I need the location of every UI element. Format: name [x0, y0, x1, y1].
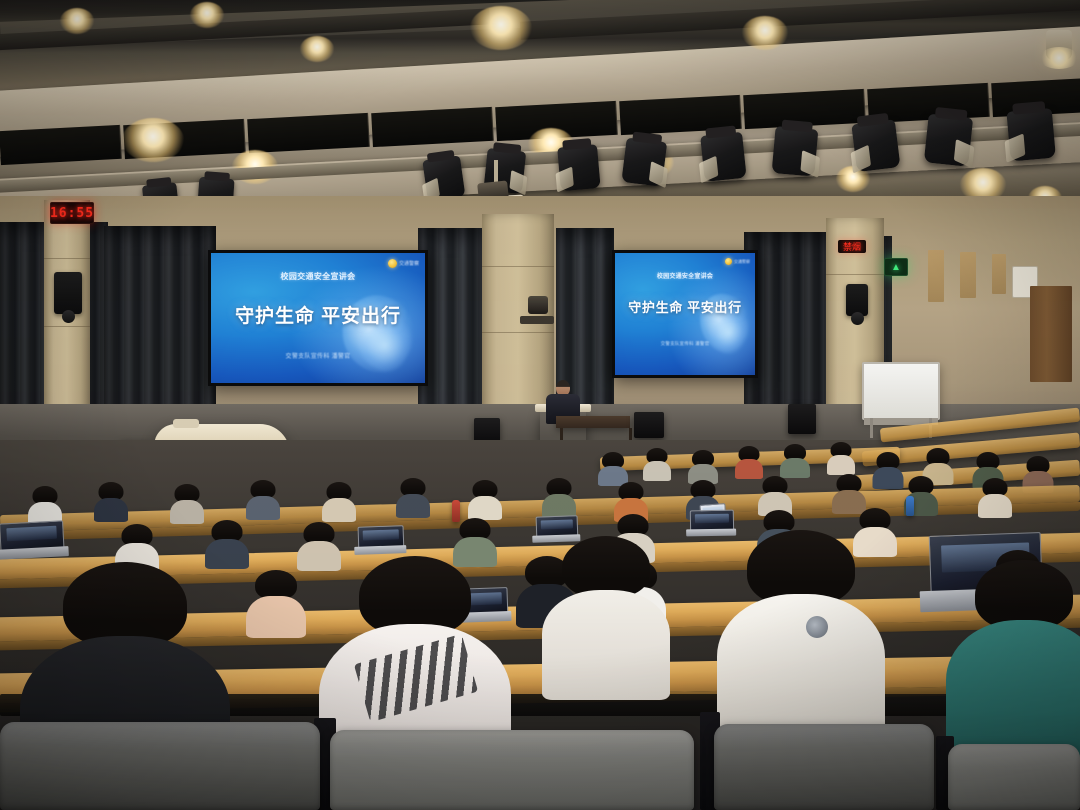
seat-back-2[interactable]: [330, 730, 694, 810]
pendant-can-light: [1046, 30, 1072, 60]
slide-logo-text-right: 交通警察: [734, 259, 750, 265]
acoustic-panel-1: [928, 250, 944, 302]
slide-footer-right: 交警支队宣传科 潘警官: [615, 341, 755, 347]
audience-member-mid-14: [980, 478, 1010, 512]
slide-title-right: 守护生命 平安出行: [615, 297, 755, 316]
downlight-12: [190, 2, 224, 28]
slide-logo-right: 交通警察: [725, 258, 750, 265]
lecture-hall-photo: 16:55 禁烟 ▲ 校园交通安全宣讲会 守护生命 平安出行 交警支队宣传科 潘…: [0, 0, 1080, 810]
audience-member-mid-3: [172, 484, 202, 518]
stage-equipment-case-3: [788, 404, 816, 434]
projection-screen-left: 校园交通安全宣讲会 守护生命 平安出行 交警支队宣传科 潘警官 交通警察: [211, 253, 425, 383]
laptop-2[interactable]: [358, 525, 403, 555]
whiteboard-leg-left: [870, 418, 873, 438]
downlight-3: [300, 36, 334, 62]
downlight-4: [470, 6, 532, 50]
slide-footer: 交警支队宣传科 潘警官: [211, 351, 425, 360]
audience-member-mid-6: [398, 478, 428, 512]
led-wall-clock: 16:55: [50, 202, 94, 224]
audience-member-back-1: [600, 452, 626, 482]
projection-screen-left-frame: 校园交通安全宣讲会 守护生命 平安出行 交警支队宣传科 潘警官 交通警察: [208, 250, 428, 386]
acoustic-panel-2: [960, 252, 976, 298]
audience-member-back-2: [644, 448, 670, 478]
stage-spotlight-9: [851, 119, 900, 172]
downlight-7: [742, 16, 788, 50]
audience-member-back-3: [690, 450, 716, 480]
audience-member-row3-1: [250, 570, 302, 632]
audience-member-mid-9: [616, 482, 646, 516]
audience-member-front-3: [548, 536, 664, 686]
slide-logo: 交通警察: [388, 259, 419, 268]
audience-member-mid-4: [248, 480, 278, 514]
projection-screen-right: 校园交通安全宣讲会 守护生命 平安出行 交警支队宣传科 潘警官 交通警察: [615, 253, 755, 375]
stage-spotlight-10: [924, 114, 973, 167]
seat-back-4[interactable]: [948, 744, 1080, 810]
audience-member-back-4: [736, 446, 762, 476]
stage-spotlight-7: [700, 132, 747, 182]
ceiling-grid-1: [0, 125, 122, 165]
downlight-11: [60, 8, 94, 34]
stage-spotlight-5: [557, 144, 601, 191]
ceiling-grid-4: [371, 107, 494, 147]
audience-member-back-10: [1024, 456, 1052, 488]
audience-member-back-6: [828, 442, 854, 472]
seat-back-1[interactable]: [0, 722, 320, 810]
led-notice-sign: 禁烟: [838, 240, 866, 253]
pillar-mounted-bracket: [520, 316, 554, 324]
wall-speaker-right: [846, 284, 868, 316]
stage-side-table: [556, 416, 630, 428]
slide-logo-badge-right: [725, 258, 732, 265]
shirt-logo-patch: [806, 616, 828, 638]
audience-member-mid-2: [96, 482, 126, 516]
audience-member-mid-1: [30, 486, 60, 520]
stage-curtain-left-mid: [104, 226, 216, 432]
audience-member-back-7: [874, 452, 902, 484]
stage-spotlight-6: [621, 138, 667, 187]
mobile-whiteboard: [862, 362, 940, 420]
side-door: [1030, 286, 1072, 382]
exit-sign: ▲: [884, 258, 908, 276]
led-sign-value: 禁烟: [843, 240, 861, 253]
stage-spotlight-11: [1006, 108, 1056, 161]
audience-member-row4-2: [208, 520, 246, 564]
downlight-1: [122, 118, 184, 162]
audience-member-mid-12: [834, 474, 864, 508]
audience-member-mid-5: [324, 482, 354, 516]
exit-sign-glyph: ▲: [891, 262, 901, 273]
laptop-1[interactable]: [0, 520, 63, 559]
stage-equipment-case-2: [634, 412, 664, 438]
stage-spotlight-8: [772, 126, 819, 176]
slide-title: 守护生命 平安出行: [211, 301, 425, 328]
pillar-mounted-light: [528, 296, 548, 314]
audience-member-mid-11: [760, 476, 790, 510]
wall-speaker-left: [54, 272, 82, 314]
clock-value: 16:55: [50, 206, 94, 221]
slide-subtitle: 校园交通安全宣讲会: [211, 271, 425, 282]
seat-back-3[interactable]: [714, 724, 934, 810]
audience-member-back-5: [782, 444, 808, 474]
slide-logo-badge: [388, 259, 397, 268]
audience-member-mid-7: [470, 480, 500, 514]
water-bottle-2: [906, 496, 914, 516]
slide-logo-text: 交通警察: [399, 260, 419, 267]
audience-member-front-5: [954, 560, 1080, 760]
slide-subtitle-right: 校园交通安全宣讲会: [615, 271, 755, 280]
ceiling-grid-3: [247, 113, 370, 153]
projection-screen-right-frame: 校园交通安全宣讲会 守护生命 平安出行 交警支队宣传科 潘警官 交通警察: [612, 250, 758, 378]
acoustic-panel-3: [992, 254, 1006, 294]
stage-spotlight-3: [422, 155, 465, 201]
audience-member-mid-8: [544, 478, 574, 512]
audience-member-front-4: [726, 530, 876, 740]
side-table-legs: [560, 428, 632, 440]
